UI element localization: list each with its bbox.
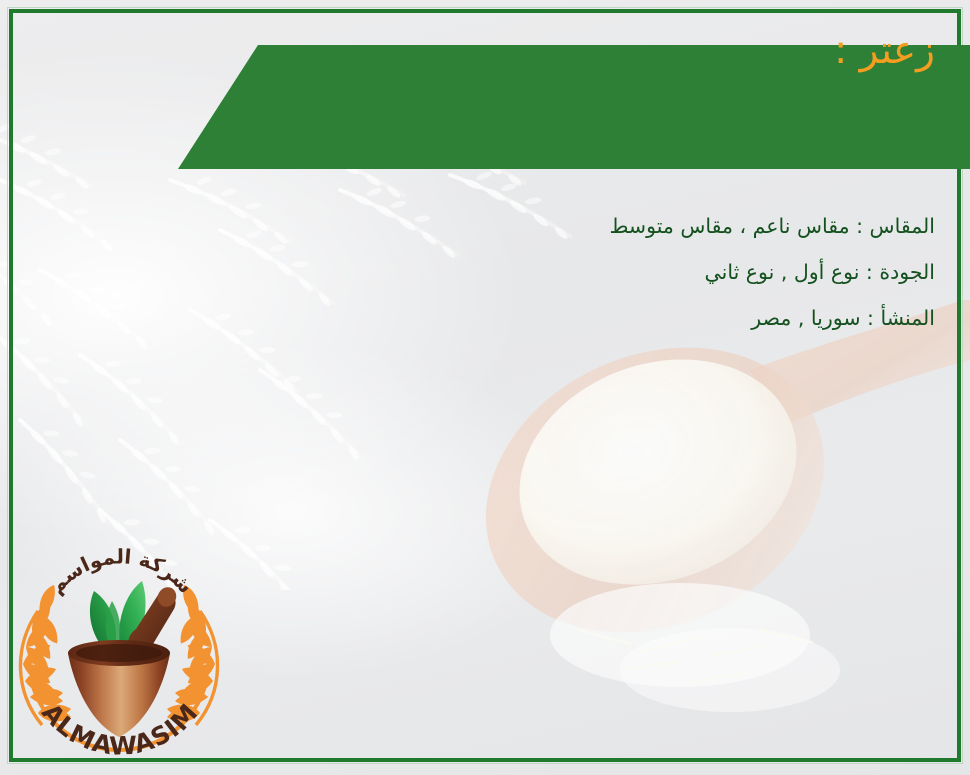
spec-line-quality: الجودة : نوع أول , نوع ثاني xyxy=(609,249,935,295)
spec-line-origin: المنشأ : سوريا , مصر xyxy=(609,295,935,341)
logo-arabic-name: شركة المواسم xyxy=(44,544,198,598)
product-spec-list: المقاس : مقاس ناعم ، مقاس متوسط الجودة :… xyxy=(609,203,935,341)
wheat-wreath-left xyxy=(19,583,72,726)
spec-line-size: المقاس : مقاس ناعم ، مقاس متوسط xyxy=(609,203,935,249)
almawasim-logo: شركة المواسم ALMAWASIM xyxy=(8,533,230,759)
logo-artwork: شركة المواسم ALMAWASIM xyxy=(8,533,230,759)
page-title: زعتر : xyxy=(834,30,935,73)
slide-canvas: زعتر : المقاس : مقاس ناعم ، مقاس متوسط ا… xyxy=(0,0,970,775)
